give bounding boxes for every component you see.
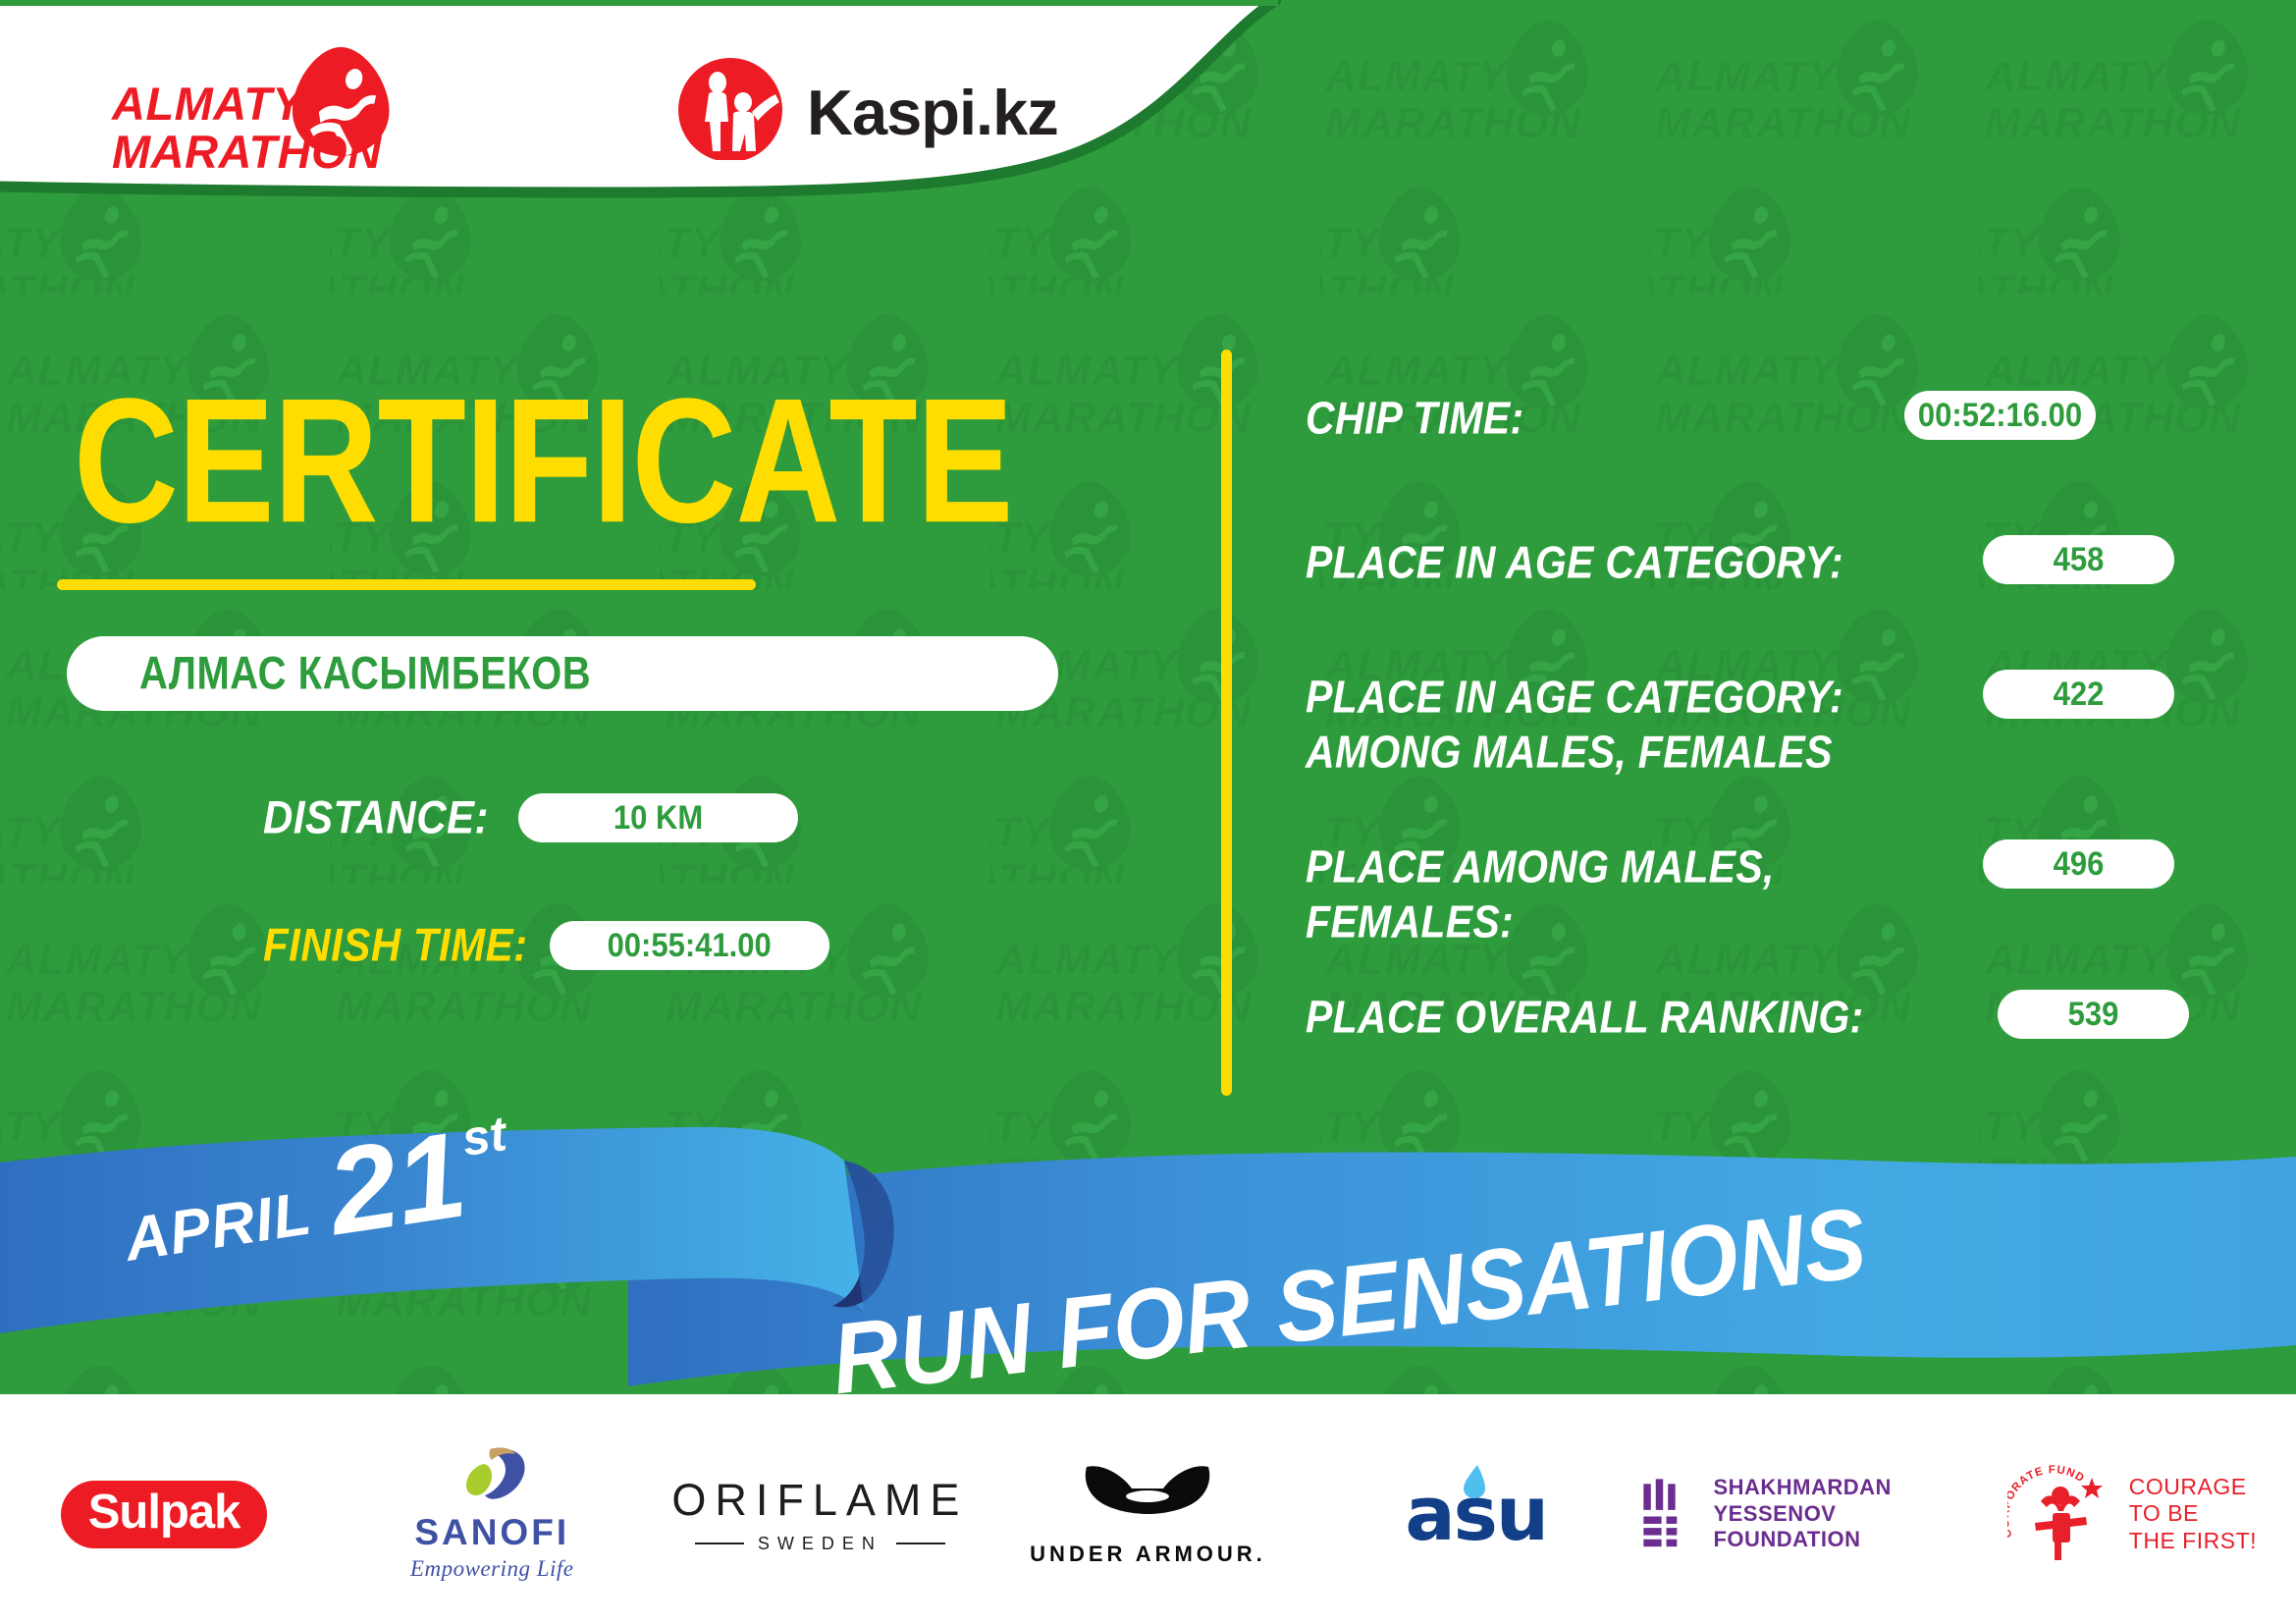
sponsor-sanofi: SANOFI Empowering Life — [328, 1440, 656, 1588]
almaty-marathon-logo: ALMATY MARATHON — [110, 43, 434, 176]
yessenov-line1: SHAKHMARDAN YESSENOV — [1713, 1475, 1967, 1527]
sanofi-wordmark: SANOFI — [414, 1512, 569, 1553]
place-age-gender-value: 422 — [2054, 675, 2105, 714]
kaspi-mark-icon — [678, 58, 782, 160]
ribbon-banner: APRIL 21 st RUN FOR SENSATIONS — [0, 1100, 2296, 1434]
courage-line3: THE FIRST! — [2129, 1528, 2257, 1554]
stat-row-place-overall: PLACE OVERALL RANKING: 539 — [1306, 990, 2169, 1039]
stat-row-chip-time: CHIP TIME: 00:52:16.00 — [1306, 391, 2169, 440]
oriflame-tagline: SWEDEN — [758, 1534, 882, 1554]
place-gender-label: PLACE AMONG MALES, FEMALES: — [1306, 839, 1895, 949]
courage-fund-mark-icon: CORPORATE FUND — [2007, 1464, 2115, 1564]
stat-row-place-age: PLACE IN AGE CATEGORY: 458 — [1306, 535, 2169, 584]
finish-time-row: FINISH TIME: 00:55:41.00 — [263, 921, 829, 970]
vertical-divider — [1221, 350, 1232, 1096]
oriflame-wordmark: ORIFLAME — [671, 1475, 968, 1526]
sanofi-mark-icon — [445, 1446, 539, 1507]
place-age-label: PLACE IN AGE CATEGORY: — [1306, 535, 1895, 590]
place-age-pill: 458 — [1983, 535, 2174, 584]
title-underline — [57, 579, 756, 590]
yessenov-line2: FOUNDATION — [1713, 1527, 1967, 1552]
sponsor-courage-fund: CORPORATE FUND COURAGE TO BE THE FIRST! — [1968, 1440, 2296, 1588]
chip-time-value: 00:52:16.00 — [1918, 396, 2082, 435]
place-overall-pill: 539 — [1998, 990, 2189, 1039]
distance-row: DISTANCE: 10 KM — [263, 793, 798, 842]
ribbon-ordinal: st — [458, 1105, 510, 1167]
stat-row-place-age-gender: PLACE IN AGE CATEGORY: AMONG MALES, FEMA… — [1306, 670, 2169, 768]
chip-time-label: CHIP TIME: — [1306, 391, 1855, 446]
participant-name: АЛМАС КАСЫМБЕКОВ — [139, 647, 591, 699]
stat-row-place-gender: PLACE AMONG MALES, FEMALES: 496 — [1306, 839, 2169, 938]
finish-time-value-pill: 00:55:41.00 — [550, 921, 829, 970]
sulpak-badge: Sulpak — [61, 1481, 268, 1548]
place-overall-label: PLACE OVERALL RANKING: — [1306, 990, 1914, 1045]
sulpak-wordmark: Sulpak — [88, 1489, 240, 1537]
kaspi-wordmark: Kaspi.kz — [807, 77, 1058, 148]
ribbon-day: 21 — [323, 1125, 471, 1244]
asu-droplet-icon — [1462, 1465, 1487, 1498]
sponsor-yessenov: SHAKHMARDAN YESSENOV FOUNDATION — [1640, 1440, 1968, 1588]
courage-line2: TO BE — [2129, 1500, 2257, 1527]
sponsor-sulpak: Sulpak — [0, 1440, 328, 1588]
place-age-gender-label: PLACE IN AGE CATEGORY: AMONG MALES, FEMA… — [1306, 670, 1914, 780]
place-gender-value: 496 — [2054, 844, 2105, 884]
oriflame-rule-right — [896, 1543, 945, 1544]
chip-time-pill: 00:52:16.00 — [1904, 391, 2096, 440]
finish-time-value: 00:55:41.00 — [608, 926, 772, 965]
courage-line1: COURAGE — [2129, 1474, 2257, 1500]
sponsor-under-armour: UNDER ARMOUR. — [984, 1440, 1311, 1588]
kaspi-logo: Kaspi.kz — [677, 57, 1099, 160]
participant-name-field: АЛМАС КАСЫМБЕКОВ — [67, 636, 1058, 711]
place-age-value: 458 — [2054, 540, 2105, 579]
under-armour-wordmark: UNDER ARMOUR. — [1030, 1542, 1266, 1567]
sponsor-asu: asu — [1312, 1440, 1640, 1588]
place-age-gender-pill: 422 — [1983, 670, 2174, 719]
distance-value: 10 KM — [614, 798, 703, 838]
certificate-canvas: ALMATY MARATHON — [0, 0, 2296, 1624]
under-armour-mark-icon — [1079, 1461, 1216, 1534]
place-overall-value: 539 — [2068, 995, 2119, 1034]
sponsor-footer: Sulpak SANOFI Empowering Life ORIFLAME — [0, 1404, 2296, 1624]
header: ALMATY MARATHON Kaspi.kz — [0, 0, 1374, 324]
distance-label: DISTANCE: — [263, 791, 489, 844]
distance-value-pill: 10 KM — [518, 793, 798, 842]
place-gender-pill: 496 — [1983, 839, 2174, 889]
sponsor-oriflame: ORIFLAME SWEDEN — [656, 1440, 984, 1588]
certificate-title: CERTIFICATE — [74, 373, 1012, 551]
yessenov-mark-icon — [1640, 1472, 1694, 1556]
logo-text-almaty: ALMATY — [111, 78, 306, 130]
finish-time-label: FINISH TIME: — [263, 919, 528, 972]
sanofi-tagline: Empowering Life — [410, 1556, 574, 1582]
logo-text-marathon: MARATHON — [112, 126, 382, 176]
oriflame-rule-left — [695, 1543, 744, 1544]
